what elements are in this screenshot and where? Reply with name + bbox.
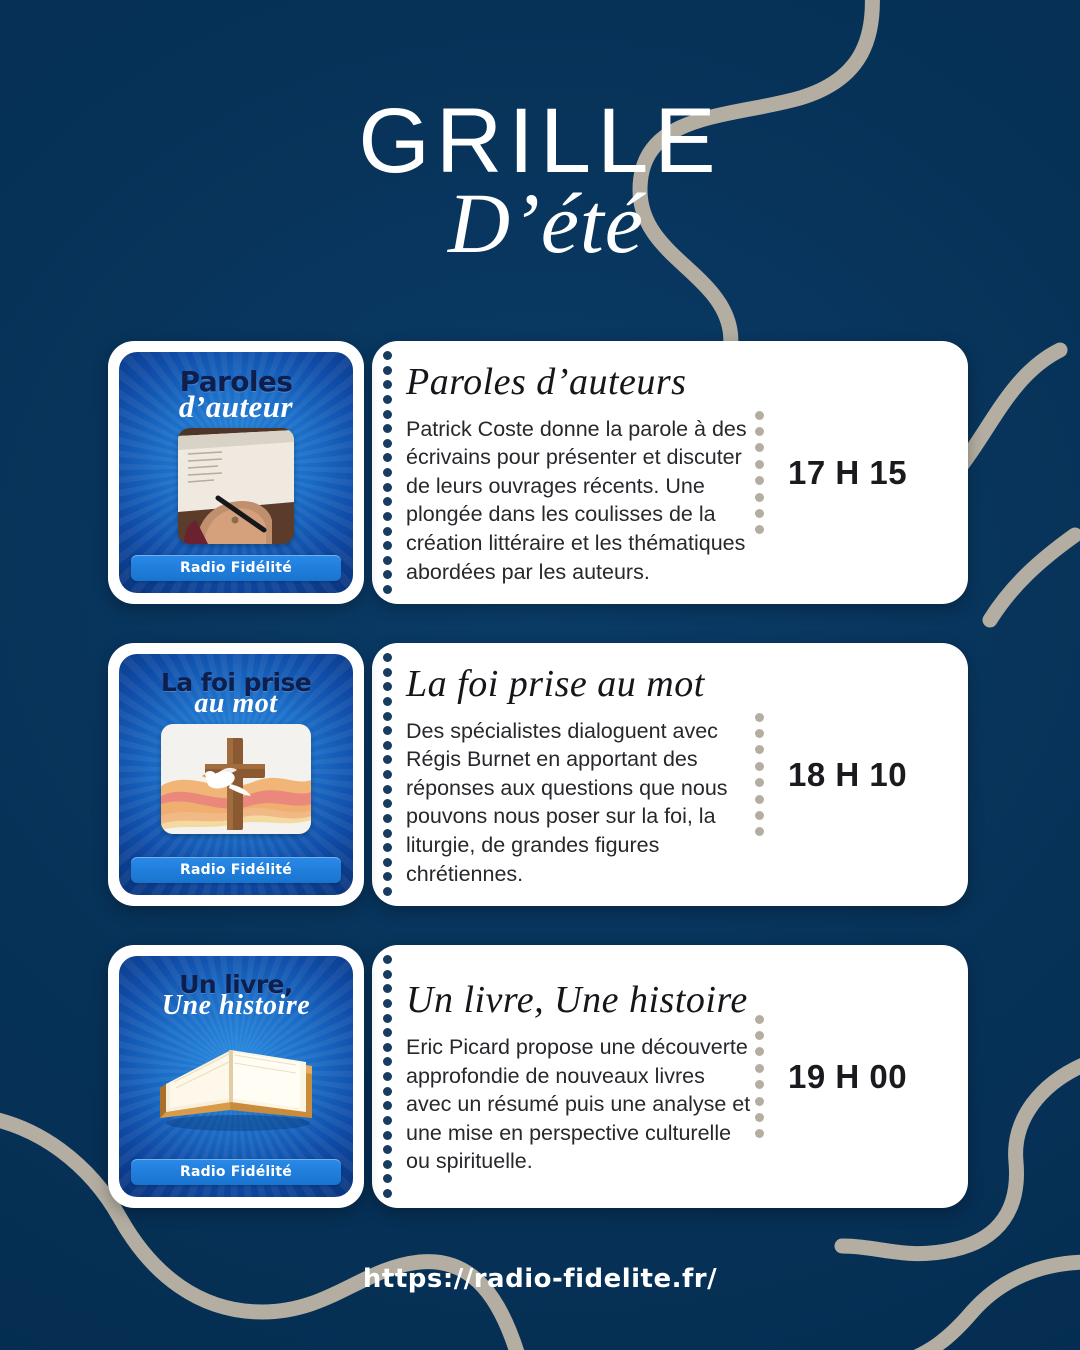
program-row[interactable]: La foi prise au mot bbox=[0, 643, 1080, 906]
program-time: 18 H 10 bbox=[788, 756, 907, 794]
program-title: La foi prise au mot bbox=[406, 665, 754, 705]
program-description: Des spécialistes dialoguent avec Régis B… bbox=[406, 717, 754, 889]
program-text: Paroles d’auteurs Patrick Coste donne la… bbox=[372, 341, 754, 604]
thumbnail-title-line2: Une histoire bbox=[119, 992, 353, 1020]
wooden-cross-with-dove-photo bbox=[161, 724, 311, 834]
dotted-divider bbox=[754, 713, 764, 837]
program-time-block: 19 H 00 bbox=[754, 945, 968, 1208]
program-thumbnail: La foi prise au mot bbox=[119, 654, 353, 895]
program-description: Patrick Coste donne la parole à des écri… bbox=[406, 415, 754, 587]
program-thumbnail-card[interactable]: Un livre, Une histoire bbox=[108, 945, 364, 1208]
thumbnail-title: La foi prise au mot bbox=[119, 670, 353, 718]
program-text: La foi prise au mot Des spécialistes dia… bbox=[372, 643, 754, 906]
dotted-divider bbox=[754, 411, 764, 535]
program-row[interactable]: Paroles d’auteur bbox=[0, 341, 1080, 604]
program-description: Eric Picard propose une découverte appro… bbox=[406, 1033, 754, 1176]
page-title-script: D’été bbox=[6, 180, 1080, 266]
program-detail-card[interactable]: Un livre, Une histoire Eric Picard propo… bbox=[372, 945, 968, 1208]
program-time: 19 H 00 bbox=[788, 1058, 907, 1096]
perforation-edge bbox=[382, 351, 392, 594]
program-time-block: 18 H 10 bbox=[754, 643, 968, 906]
website-url[interactable]: https://radio-fidelite.fr/ bbox=[363, 1264, 717, 1294]
station-badge: Radio Fidélité bbox=[131, 857, 341, 883]
program-title: Un livre, Une histoire bbox=[406, 981, 754, 1021]
station-badge: Radio Fidélité bbox=[131, 555, 341, 581]
program-thumbnail-card[interactable]: La foi prise au mot bbox=[108, 643, 364, 906]
program-time-block: 17 H 15 bbox=[754, 341, 968, 604]
program-thumbnail-card[interactable]: Paroles d’auteur bbox=[108, 341, 364, 604]
hand-writing-in-book-photo bbox=[178, 428, 294, 544]
program-time: 17 H 15 bbox=[788, 454, 907, 492]
dotted-divider bbox=[754, 1015, 764, 1139]
program-detail-card[interactable]: La foi prise au mot Des spécialistes dia… bbox=[372, 643, 968, 906]
program-thumbnail: Paroles d’auteur bbox=[119, 352, 353, 593]
perforation-edge bbox=[382, 653, 392, 896]
thumbnail-title-line2: au mot bbox=[119, 690, 353, 718]
page-title-main: GRILLE bbox=[0, 96, 1080, 186]
program-detail-card[interactable]: Paroles d’auteurs Patrick Coste donne la… bbox=[372, 341, 968, 604]
page-header: GRILLE D’été bbox=[0, 96, 1080, 266]
program-text: Un livre, Une histoire Eric Picard propo… bbox=[372, 945, 754, 1208]
thumbnail-title: Paroles d’auteur bbox=[119, 368, 353, 422]
perforation-edge bbox=[382, 955, 392, 1198]
thumbnail-title: Un livre, Une histoire bbox=[119, 972, 353, 1020]
open-book-photo bbox=[146, 1022, 326, 1134]
program-row[interactable]: Un livre, Une histoire bbox=[0, 945, 1080, 1208]
thumbnail-title-line2: d’auteur bbox=[119, 391, 353, 422]
program-list: Paroles d’auteur bbox=[0, 341, 1080, 1247]
station-badge: Radio Fidélité bbox=[131, 1159, 341, 1185]
program-thumbnail: Un livre, Une histoire bbox=[119, 956, 353, 1197]
page-footer: https://radio-fidelite.fr/ bbox=[0, 1264, 1080, 1294]
program-title: Paroles d’auteurs bbox=[406, 363, 754, 403]
